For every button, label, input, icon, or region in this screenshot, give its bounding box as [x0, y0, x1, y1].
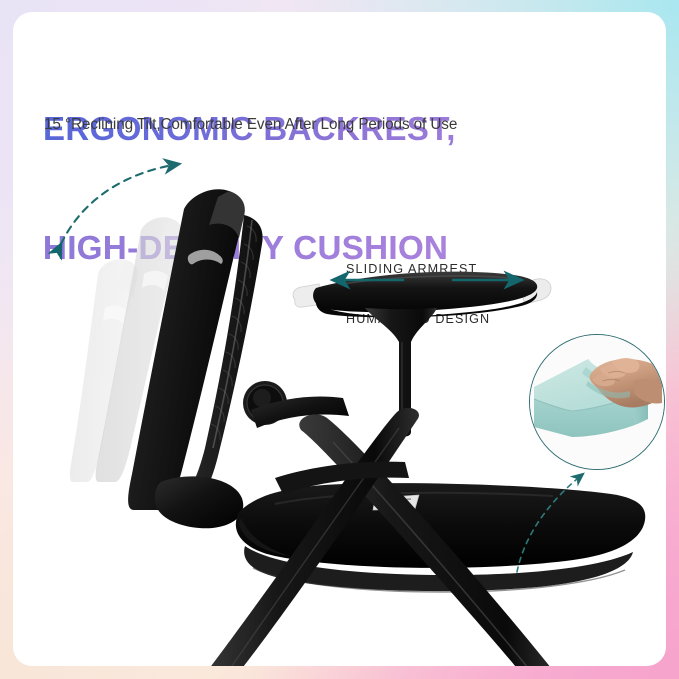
product-feature-banner: ERGONOMIC BACKREST, HIGH-DENSITY CUSHION… — [0, 0, 679, 679]
foam-demo-inset — [529, 334, 665, 470]
foam-inset-image — [530, 335, 664, 469]
white-content-card: ERGONOMIC BACKREST, HIGH-DENSITY CUSHION… — [13, 12, 666, 666]
